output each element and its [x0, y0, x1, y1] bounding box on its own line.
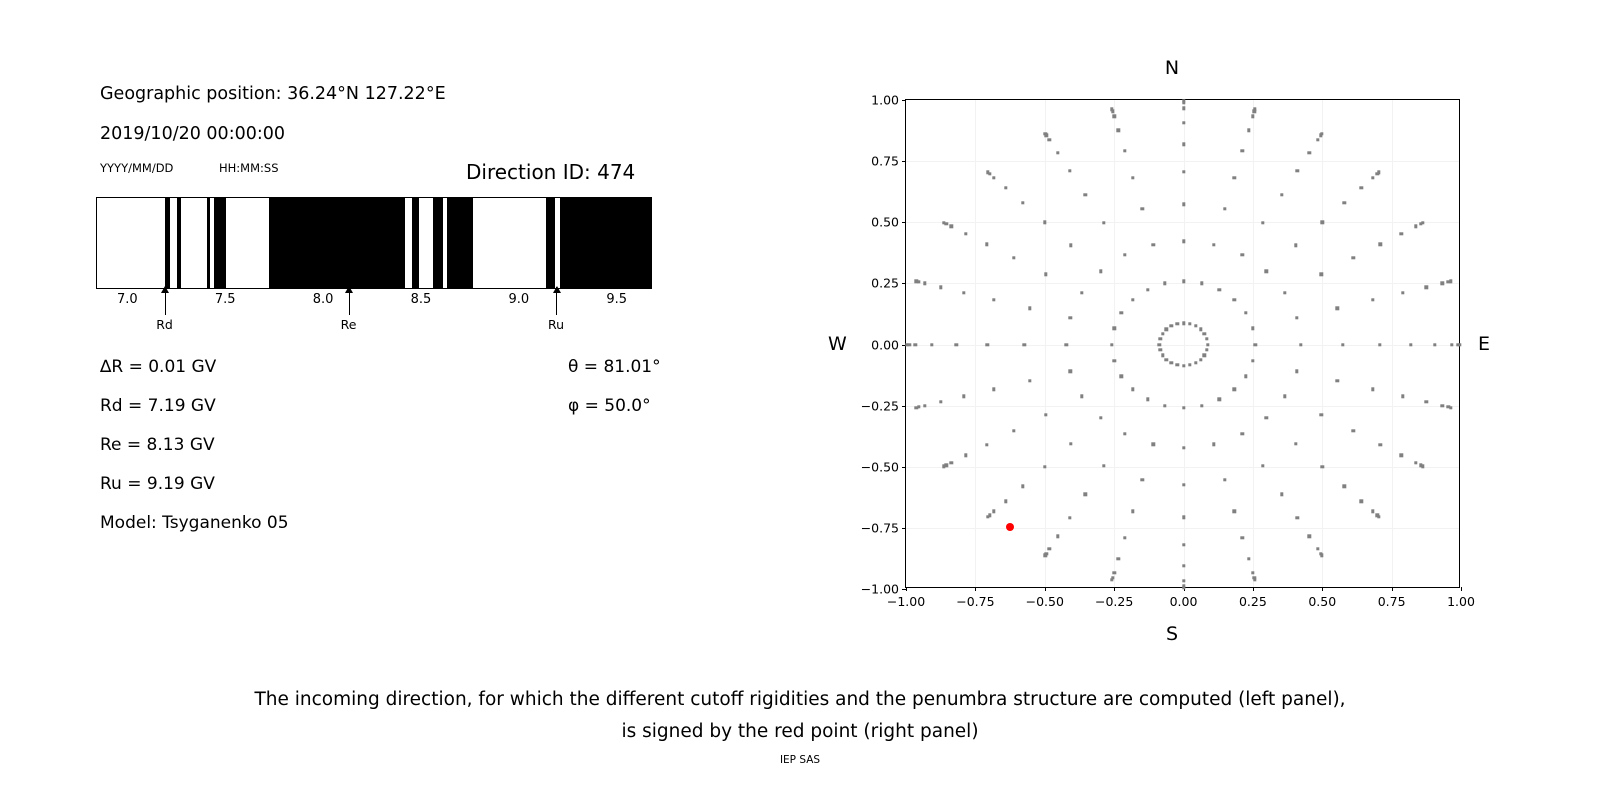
direction-point — [1161, 353, 1164, 356]
direction-point — [1244, 311, 1247, 314]
y-tick-label: 0.00 — [871, 337, 899, 352]
direction-point — [905, 343, 908, 346]
direction-point — [1131, 176, 1134, 179]
direction-point — [1161, 332, 1164, 335]
direction-point — [1112, 326, 1115, 329]
direction-point — [1069, 316, 1072, 319]
marker-label: Re — [341, 317, 357, 332]
direction-point — [1043, 465, 1046, 468]
arrow-up-icon — [553, 286, 561, 293]
param-re: Re = 8.13 GV — [100, 435, 215, 455]
direction-point — [1414, 225, 1417, 228]
direction-point — [1400, 232, 1403, 235]
direction-point — [1165, 358, 1168, 361]
direction-point — [1400, 454, 1403, 457]
y-tick-label: 1.00 — [871, 93, 899, 108]
direction-point — [1182, 170, 1185, 173]
direction-point — [1251, 326, 1254, 329]
direction-point — [1176, 322, 1179, 325]
direction-point — [1131, 510, 1134, 513]
param-theta: θ = 81.01° — [568, 357, 661, 377]
direction-point — [1044, 273, 1047, 276]
direction-point — [1261, 464, 1264, 467]
param-ru: Ru = 9.19 GV — [100, 474, 215, 494]
direction-point — [1378, 343, 1381, 346]
penumbra-forbidden-band — [207, 198, 211, 288]
x-tick-label: −0.75 — [956, 594, 994, 609]
direction-point — [1151, 243, 1154, 246]
direction-point — [1182, 483, 1185, 486]
direction-point — [1120, 311, 1123, 314]
direction-point — [1295, 316, 1298, 319]
y-tick-mark — [902, 283, 906, 284]
direction-point — [1233, 388, 1236, 391]
direction-point — [986, 515, 989, 518]
direction-point — [1421, 465, 1424, 468]
geographic-position-text: Geographic position: 36.24°N 127.22°E — [100, 84, 446, 104]
date-format-hint: YYYY/MM/DD — [100, 161, 173, 175]
compass-east-label: E — [1478, 333, 1490, 355]
direction-point — [1294, 244, 1297, 247]
x-tick-mark — [1114, 587, 1115, 591]
direction-point — [1241, 149, 1244, 152]
param-model: Model: Tsyganenko 05 — [100, 513, 289, 533]
direction-point — [985, 243, 988, 246]
direction-point — [1343, 484, 1346, 487]
direction-point — [1182, 107, 1185, 110]
footer-credit: IEP SAS — [0, 754, 1600, 766]
direction-point — [1043, 221, 1046, 224]
x-tick-label: 0.00 — [1170, 594, 1198, 609]
direction-point — [1247, 129, 1250, 132]
direction-point — [1371, 388, 1374, 391]
direction-point — [1253, 108, 1256, 111]
direction-point — [964, 454, 967, 457]
direction-point — [1205, 348, 1208, 351]
param-delta-r: ∆R = 0.01 GV — [100, 357, 216, 377]
direction-point — [1004, 186, 1007, 189]
direction-point — [1450, 343, 1453, 346]
direction-point — [1295, 370, 1298, 373]
direction-point — [1199, 358, 1202, 361]
direction-point — [1182, 446, 1185, 449]
direction-point — [1123, 536, 1126, 539]
direction-point — [964, 232, 967, 235]
direction-point — [1182, 321, 1185, 324]
direction-point — [1112, 359, 1115, 362]
direction-point — [1182, 543, 1185, 546]
y-tick-label: −0.75 — [861, 520, 899, 535]
direction-point — [939, 400, 942, 403]
x-tick-label: −0.25 — [1095, 594, 1133, 609]
direction-point — [1377, 515, 1380, 518]
direction-point — [1056, 151, 1059, 154]
direction-point — [1251, 359, 1254, 362]
direction-point — [1069, 442, 1072, 445]
direction-point — [1379, 443, 1382, 446]
direction-point — [1165, 328, 1168, 331]
penumbra-chart — [96, 197, 652, 289]
rigidity-tick-label: 9.5 — [606, 292, 627, 307]
penumbra-forbidden-band — [412, 198, 420, 288]
direction-point — [1223, 207, 1226, 210]
direction-point — [1414, 461, 1417, 464]
direction-point — [1102, 464, 1105, 467]
direction-point — [1320, 132, 1323, 135]
direction-point — [1084, 193, 1087, 196]
direction-point — [1212, 443, 1215, 446]
x-tick-label: 0.25 — [1239, 594, 1267, 609]
rigidity-tick-label: 8.5 — [411, 292, 432, 307]
y-tick-label: −0.50 — [861, 459, 899, 474]
direction-point — [1028, 379, 1031, 382]
direction-point — [1158, 348, 1161, 351]
direction-point — [1308, 151, 1311, 154]
direction-point — [1233, 510, 1236, 513]
direction-point — [1158, 337, 1161, 340]
direction-point — [1004, 499, 1007, 502]
y-tick-mark — [902, 467, 906, 468]
direction-point — [992, 298, 995, 301]
compass-south-label: S — [1166, 623, 1178, 645]
direction-point — [1352, 429, 1355, 432]
gridline-horizontal — [906, 161, 1459, 162]
direction-point — [1044, 132, 1047, 135]
direction-point — [1099, 270, 1102, 273]
direction-point — [1170, 324, 1173, 327]
y-tick-mark — [902, 161, 906, 162]
left-panel: Geographic position: 36.24°N 127.22°E 20… — [0, 0, 800, 680]
direction-point — [1141, 478, 1144, 481]
direction-point — [1449, 406, 1452, 409]
gridline-vertical — [1322, 100, 1323, 587]
direction-point — [1203, 332, 1206, 335]
marker-label: Ru — [548, 317, 564, 332]
direction-point — [1206, 343, 1209, 346]
direction-point — [1251, 571, 1254, 574]
direction-point — [942, 221, 945, 224]
gridline-horizontal — [906, 528, 1459, 529]
gridline-vertical — [1045, 100, 1046, 587]
penumbra-forbidden-band — [177, 198, 181, 288]
gridline-horizontal — [906, 283, 1459, 284]
direction-point — [1200, 404, 1203, 407]
y-tick-mark — [902, 406, 906, 407]
rigidity-tick-label: 9.0 — [509, 292, 530, 307]
direction-point — [1320, 413, 1323, 416]
caption-line-2: is signed by the red point (right panel) — [0, 716, 1600, 748]
direction-point — [1012, 429, 1015, 432]
x-tick-mark — [1392, 587, 1393, 591]
direction-point — [1182, 280, 1185, 283]
direction-point — [1341, 343, 1344, 346]
direction-point — [1123, 149, 1126, 152]
direction-point — [1254, 343, 1257, 346]
direction-point — [1371, 298, 1374, 301]
direction-point — [986, 171, 989, 174]
direction-point — [1120, 374, 1123, 377]
direction-point — [1233, 176, 1236, 179]
direction-point — [1401, 395, 1404, 398]
y-tick-mark — [902, 100, 906, 101]
x-tick-mark — [1045, 587, 1046, 591]
direction-point — [1377, 171, 1380, 174]
gridline-horizontal — [906, 222, 1459, 223]
rigidity-axis: 7.07.58.08.59.09.5RdReRu — [96, 289, 652, 359]
x-tick-mark — [1322, 587, 1323, 591]
direction-point — [1244, 374, 1247, 377]
direction-point — [923, 282, 926, 285]
direction-point — [1261, 221, 1264, 224]
direction-point — [1360, 499, 1363, 502]
x-tick-label: −0.50 — [1026, 594, 1064, 609]
direction-point — [1182, 579, 1185, 582]
direction-point — [1044, 554, 1047, 557]
direction-point — [1371, 176, 1374, 179]
direction-point — [1158, 343, 1161, 346]
arrow-up-icon — [345, 286, 353, 293]
direction-point — [992, 176, 995, 179]
time-format-hint: HH:MM:SS — [219, 161, 279, 175]
direction-point — [1240, 432, 1243, 435]
direction-point — [1336, 379, 1339, 382]
y-tick-label: 0.50 — [871, 215, 899, 230]
rigidity-tick-label: 8.0 — [313, 292, 334, 307]
direction-point — [1069, 244, 1072, 247]
direction-point — [1065, 343, 1068, 346]
rigidity-tick-label: 7.5 — [215, 292, 236, 307]
direction-point — [1294, 442, 1297, 445]
direction-point — [985, 443, 988, 446]
direction-point — [1123, 432, 1126, 435]
direction-point — [1069, 370, 1072, 373]
direction-point — [1336, 307, 1339, 310]
direction-point — [950, 461, 953, 464]
direction-point — [1141, 207, 1144, 210]
direction-point — [1163, 404, 1166, 407]
param-rd: Rd = 7.19 GV — [100, 396, 216, 416]
direction-point — [1241, 536, 1244, 539]
direction-point — [1320, 554, 1323, 557]
x-tick-mark — [975, 587, 976, 591]
direction-point — [1280, 493, 1283, 496]
direction-point — [1182, 406, 1185, 409]
penumbra-forbidden-band — [560, 198, 652, 288]
direction-point — [1247, 557, 1250, 560]
direction-point — [1021, 201, 1024, 204]
direction-point — [1321, 465, 1324, 468]
direction-point — [1194, 324, 1197, 327]
direction-point — [1182, 143, 1185, 146]
penumbra-forbidden-band — [214, 198, 226, 288]
y-tick-mark — [902, 222, 906, 223]
compass-west-label: W — [828, 333, 847, 355]
direction-point — [1280, 193, 1283, 196]
direction-point — [962, 395, 965, 398]
direction-point — [962, 291, 965, 294]
direction-point — [1182, 203, 1185, 206]
direction-point — [915, 406, 918, 409]
datetime-text: 2019/10/20 00:00:00 — [100, 124, 285, 144]
marker-label: Rd — [156, 317, 173, 332]
direction-point — [1265, 416, 1268, 419]
direction-point — [1028, 307, 1031, 310]
direction-point — [1068, 169, 1071, 172]
direction-point — [1205, 337, 1208, 340]
direction-point — [1425, 400, 1428, 403]
figure-caption: The incoming direction, for which the di… — [0, 684, 1600, 748]
direction-point — [1308, 535, 1311, 538]
direction-point — [914, 343, 917, 346]
direction-point — [1112, 571, 1115, 574]
direction-point — [954, 343, 957, 346]
x-tick-mark — [1253, 587, 1254, 591]
selected-direction-marker[interactable] — [1006, 523, 1014, 531]
direction-id-label: Direction ID: 474 — [466, 160, 635, 184]
direction-point — [1316, 138, 1319, 141]
direction-point — [1182, 564, 1185, 567]
y-tick-label: 0.25 — [871, 276, 899, 291]
direction-point — [1240, 253, 1243, 256]
direction-point — [1441, 404, 1444, 407]
direction-point — [1131, 388, 1134, 391]
direction-point — [1163, 282, 1166, 285]
gridline-vertical — [975, 100, 976, 587]
direction-point — [1182, 516, 1185, 519]
direction-point — [1343, 201, 1346, 204]
direction-point — [1253, 578, 1256, 581]
direction-point — [1401, 291, 1404, 294]
direction-point — [1182, 364, 1185, 367]
direction-point — [1320, 273, 1323, 276]
direction-point — [1194, 361, 1197, 364]
direction-point — [1102, 221, 1105, 224]
direction-point — [1084, 493, 1087, 496]
direction-point — [1182, 586, 1185, 589]
direction-point — [1316, 547, 1319, 550]
direction-point — [1110, 578, 1113, 581]
penumbra-forbidden-band — [447, 198, 473, 288]
y-tick-mark — [902, 528, 906, 529]
direction-point — [1425, 285, 1428, 288]
direction-point — [1218, 398, 1221, 401]
direction-point — [1048, 138, 1051, 141]
direction-point — [1023, 343, 1026, 346]
gridline-vertical — [1392, 100, 1393, 587]
direction-point — [1176, 363, 1179, 366]
direction-point — [1433, 343, 1436, 346]
direction-point — [1080, 394, 1083, 397]
direction-point — [915, 280, 918, 283]
x-tick-label: 1.00 — [1447, 594, 1475, 609]
y-tick-label: −1.00 — [861, 582, 899, 597]
direction-point — [1056, 535, 1059, 538]
direction-point — [1295, 169, 1298, 172]
y-tick-mark — [902, 589, 906, 590]
penumbra-forbidden-band — [433, 198, 443, 288]
direction-point — [1409, 343, 1412, 346]
direction-point — [1188, 363, 1191, 366]
x-tick-label: 0.75 — [1378, 594, 1406, 609]
x-tick-label: 0.50 — [1308, 594, 1336, 609]
compass-north-label: N — [1165, 57, 1179, 79]
gridline-vertical — [1114, 100, 1115, 587]
direction-point — [1146, 288, 1149, 291]
direction-point — [1044, 413, 1047, 416]
direction-point — [1199, 328, 1202, 331]
direction-point — [992, 510, 995, 513]
penumbra-bar — [96, 197, 652, 289]
direction-point — [1182, 239, 1185, 242]
direction-point — [1112, 115, 1115, 118]
penumbra-forbidden-band — [165, 198, 171, 288]
x-tick-mark — [906, 587, 907, 591]
penumbra-forbidden-band — [269, 198, 405, 288]
direction-point — [1182, 99, 1185, 102]
direction-point — [1299, 343, 1302, 346]
direction-point — [1021, 484, 1024, 487]
direction-point — [1110, 343, 1113, 346]
direction-point — [1371, 510, 1374, 513]
direction-point — [1188, 322, 1191, 325]
arrow-up-icon — [161, 286, 169, 293]
direction-point — [1117, 557, 1120, 560]
direction-point — [1218, 288, 1221, 291]
direction-point — [1223, 478, 1226, 481]
direction-point — [1441, 282, 1444, 285]
direction-point — [1110, 108, 1113, 111]
direction-point — [1283, 394, 1286, 397]
rigidity-tick-label: 7.0 — [117, 292, 138, 307]
direction-point — [1212, 243, 1215, 246]
direction-point — [1151, 443, 1154, 446]
direction-point — [1131, 298, 1134, 301]
direction-point — [1048, 547, 1051, 550]
gridline-horizontal — [906, 467, 1459, 468]
direction-point — [1182, 121, 1185, 124]
direction-point — [930, 343, 933, 346]
direction-point — [1251, 115, 1254, 118]
penumbra-forbidden-band — [546, 198, 555, 288]
direction-point — [923, 404, 926, 407]
direction-point — [1352, 256, 1355, 259]
direction-point — [950, 225, 953, 228]
direction-scatter-plot: −1.00−0.75−0.50−0.250.000.250.500.751.00… — [905, 99, 1460, 588]
direction-point — [1295, 516, 1298, 519]
direction-point — [1012, 256, 1015, 259]
direction-point — [1117, 129, 1120, 132]
direction-point — [1283, 291, 1286, 294]
direction-point — [1421, 221, 1424, 224]
direction-point — [986, 343, 989, 346]
direction-point — [1321, 221, 1324, 224]
direction-point — [1146, 398, 1149, 401]
direction-point — [1170, 361, 1173, 364]
direction-point — [1360, 186, 1363, 189]
caption-line-1: The incoming direction, for which the di… — [0, 684, 1600, 716]
direction-point — [939, 285, 942, 288]
direction-point — [1123, 253, 1126, 256]
x-tick-mark — [1461, 587, 1462, 591]
direction-point — [1379, 243, 1382, 246]
direction-point — [1233, 298, 1236, 301]
direction-point — [1265, 270, 1268, 273]
direction-point — [1068, 516, 1071, 519]
param-phi: φ = 50.0° — [568, 396, 651, 416]
direction-point — [1449, 280, 1452, 283]
direction-point — [1458, 343, 1461, 346]
y-tick-label: 0.75 — [871, 154, 899, 169]
